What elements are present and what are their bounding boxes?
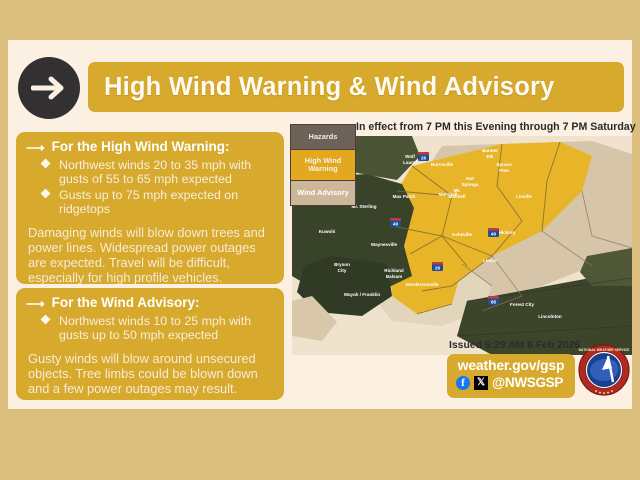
arrow-right-icon: ⟶ xyxy=(26,295,45,311)
website-url[interactable]: weather.gov/gsp xyxy=(447,354,575,373)
weather-graphic: High Wind Warning & Wind Advisory ⟶ For … xyxy=(0,0,640,480)
svg-text:26: 26 xyxy=(435,266,441,272)
svg-text:Asheville: Asheville xyxy=(452,232,473,237)
list-item: Northwest winds 20 to 35 mph with gusts … xyxy=(42,158,274,187)
svg-text:Max Patch: Max Patch xyxy=(393,194,416,199)
svg-text:Balsam: Balsam xyxy=(386,274,402,279)
svg-text:NATIONAL WEATHER SERVICE: NATIONAL WEATHER SERVICE xyxy=(579,348,630,352)
warning-heading: For the High Wind Warning: xyxy=(52,139,230,154)
bullet-text: Gusts up to 75 mph expected on ridgetops xyxy=(59,188,238,216)
svg-text:Hickory: Hickory xyxy=(499,230,516,235)
svg-text:Wayah / Franklin: Wayah / Franklin xyxy=(344,292,381,297)
nws-seal-logo: NATIONAL WEATHER SERVICE xyxy=(578,344,630,396)
interstate-shield: 26 xyxy=(418,152,429,162)
svg-text:Mitchell: Mitchell xyxy=(448,194,465,199)
svg-text:Kuwohi: Kuwohi xyxy=(319,229,336,234)
arrow-right-icon: ⟶ xyxy=(26,139,45,155)
advisory-heading: For the Wind Advisory: xyxy=(52,295,200,310)
page-title-text: High Wind Warning & Wind Advisory xyxy=(88,73,554,102)
diamond-bullet-icon xyxy=(41,159,51,169)
interstate-shield: 85 xyxy=(488,296,499,306)
list-item: Gusts up to 75 mph expected on ridgetops xyxy=(42,188,274,217)
svg-text:Lincolnton: Lincolnton xyxy=(538,314,562,319)
interstate-shield: 40 xyxy=(390,218,401,228)
warning-paragraph: Damaging winds will blow down trees and … xyxy=(16,218,284,286)
bullet-text: Northwest winds 20 to 35 mph with gusts … xyxy=(59,158,251,186)
advisory-paragraph: Gusty winds will blow around unsecured o… xyxy=(16,344,284,397)
wind-advisory-panel: ⟶ For the Wind Advisory: Northwest winds… xyxy=(16,288,284,400)
page-title: High Wind Warning & Wind Advisory xyxy=(88,62,624,112)
svg-text:Elk: Elk xyxy=(487,154,494,159)
facebook-icon[interactable]: f xyxy=(456,376,470,390)
svg-text:Waynesville: Waynesville xyxy=(371,242,398,247)
list-item: Northwest winds 10 to 25 mph with gusts … xyxy=(42,314,274,343)
svg-text:Springs: Springs xyxy=(461,182,479,187)
diamond-bullet-icon xyxy=(41,315,51,325)
high-wind-warning-panel: ⟶ For the High Wind Warning: Northwest w… xyxy=(16,132,284,284)
svg-text:Linville: Linville xyxy=(516,194,532,199)
social-handle[interactable]: @NWSGSP xyxy=(492,375,563,390)
bullet-text: Northwest winds 10 to 25 mph with gusts … xyxy=(59,314,251,342)
svg-text:Lenoir: Lenoir xyxy=(483,258,497,263)
svg-text:Hot: Hot xyxy=(466,176,474,181)
issued-timestamp: Issued 5:29 AM 6 Feb 2026 xyxy=(449,340,580,351)
svg-text:Hendersonville: Hendersonville xyxy=(406,282,439,287)
svg-text:Laurel: Laurel xyxy=(403,160,417,165)
svg-text:85: 85 xyxy=(491,300,497,306)
svg-text:40: 40 xyxy=(491,232,497,238)
warning-bullet-list: Northwest winds 20 to 35 mph with gusts … xyxy=(16,158,284,217)
map-effective-text: In effect from 7 PM this Evening through… xyxy=(356,121,636,133)
svg-text:Bryson: Bryson xyxy=(334,262,350,267)
svg-text:26: 26 xyxy=(421,156,427,162)
x-twitter-icon[interactable]: 𝕏 xyxy=(474,376,488,390)
legend-item-high-wind-warning: High Wind Warning xyxy=(291,149,355,181)
svg-text:40: 40 xyxy=(393,222,399,228)
svg-text:Burnsville: Burnsville xyxy=(431,162,454,167)
interstate-shield: 26 xyxy=(432,262,443,272)
interstate-shield: 40 xyxy=(488,228,499,238)
svg-text:Richland: Richland xyxy=(384,268,404,273)
diamond-bullet-icon xyxy=(41,188,51,198)
legend-item-wind-advisory: Wind Advisory xyxy=(291,181,355,205)
svg-text:City: City xyxy=(338,268,347,273)
svg-text:Forest City: Forest City xyxy=(510,302,534,307)
svg-text:Mt.: Mt. xyxy=(454,188,461,193)
advisory-bullet-list: Northwest winds 10 to 25 mph with gusts … xyxy=(16,314,284,343)
map-legend: Hazards High Wind Warning Wind Advisory xyxy=(290,124,356,206)
legend-header: Hazards xyxy=(291,125,355,149)
svg-text:Wolf: Wolf xyxy=(405,154,415,159)
contact-pill[interactable]: weather.gov/gsp f 𝕏 @NWSGSP xyxy=(447,354,575,398)
svg-text:Spruce: Spruce xyxy=(496,162,512,167)
arrow-right-icon xyxy=(18,57,80,119)
svg-text:Banner: Banner xyxy=(482,148,498,153)
svg-text:Pine: Pine xyxy=(499,168,509,173)
